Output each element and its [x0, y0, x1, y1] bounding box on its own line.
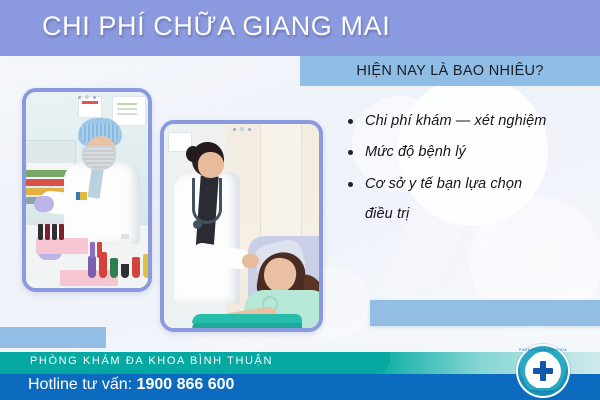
subtitle-text: HIỆN NAY LÀ BAO NHIÊU?: [356, 63, 543, 79]
list-item: Mức độ bệnh lý: [344, 141, 594, 163]
page-title: CHI PHÍ CHỮA GIANG MAI: [42, 11, 390, 42]
decorative-bar-left: [0, 327, 106, 348]
list-item-label: Cơ sở y tế bạn lựa chọn: [365, 173, 522, 195]
photo-doctor-patient: [164, 124, 319, 328]
photo-right-frame: [160, 120, 323, 332]
poster-canvas: CHI PHÍ CHỮA GIANG MAI HIỆN NAY LÀ BAO N…: [0, 0, 600, 400]
logo-arc-bottom-text: BÌNH THUẬN: [516, 389, 570, 393]
frame-dots-icon: [78, 95, 96, 99]
bullet-dot-icon: [348, 150, 353, 155]
list-item-continuation: điều trị: [344, 203, 594, 225]
subtitle-band: HIỆN NAY LÀ BAO NHIÊU?: [300, 56, 600, 86]
list-item: Chi phí khám — xét nghiệm: [344, 110, 594, 132]
benefits-list: Chi phí khám — xét nghiệm Mức độ bệnh lý…: [344, 110, 594, 235]
frame-dots-icon: [233, 127, 251, 131]
bullet-dot-icon: [348, 119, 353, 124]
photo-lab-technician: [26, 92, 148, 288]
list-item-label: Mức độ bệnh lý: [365, 141, 466, 163]
hotline-number: 1900 866 600: [137, 376, 235, 393]
hotline-text: Hotline tư vấn: 1900 866 600: [28, 376, 234, 394]
hotline-label: Hotline tư vấn:: [28, 376, 132, 393]
list-item-continuation-label: điều trị: [365, 203, 409, 225]
photo-left-frame: [22, 88, 152, 292]
clinic-name: PHÒNG KHÁM ĐA KHOA BÌNH THUẬN: [30, 355, 273, 367]
clinic-logo: PHÒNG KHÁM ĐA KHOA BÌNH THUẬN: [516, 344, 570, 398]
decorative-bar-right: [370, 300, 600, 326]
list-item-label: Chi phí khám — xét nghiệm: [365, 110, 546, 132]
list-item: Cơ sở y tế bạn lựa chọn: [344, 173, 594, 195]
bullet-dot-icon: [348, 182, 353, 187]
